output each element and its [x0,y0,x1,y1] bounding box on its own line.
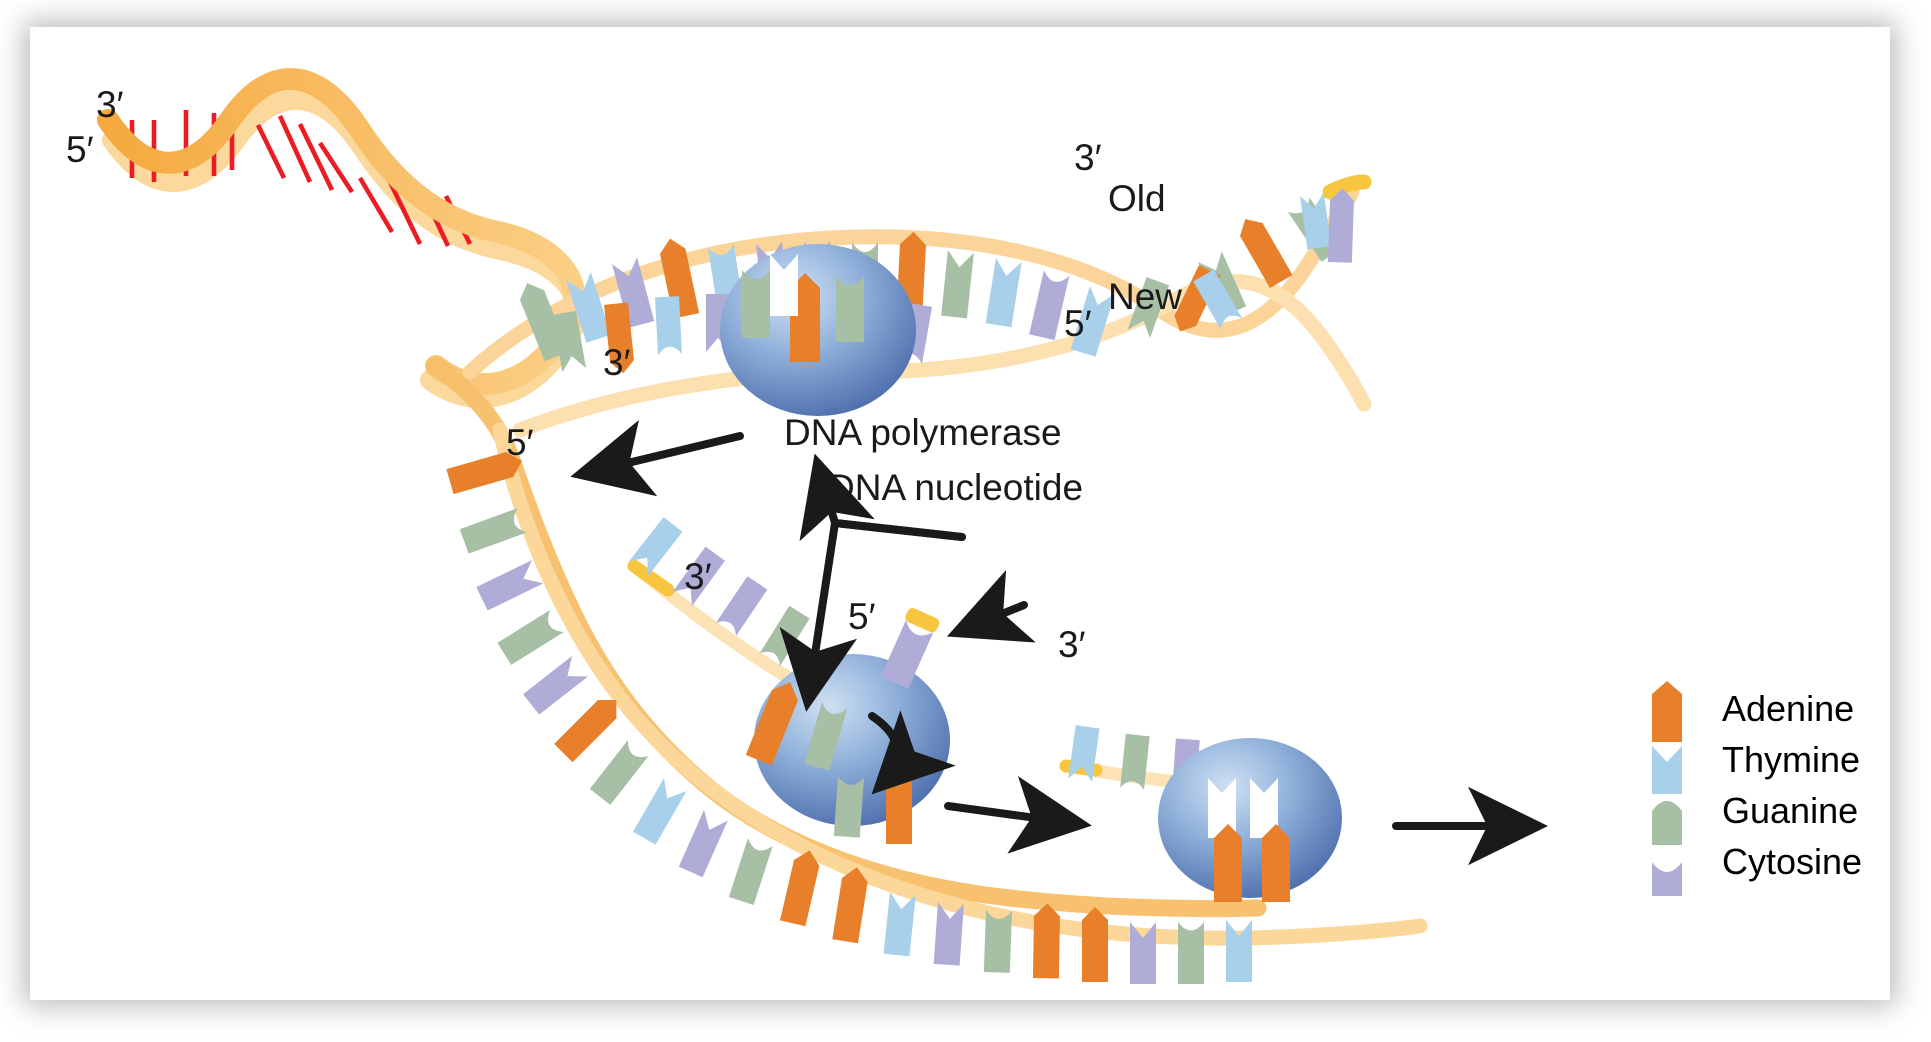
parent-helix-5prime-label: 5′ [66,131,94,168]
dna-polymerase-enzyme-2 [746,654,950,844]
replication-direction-arrow-lower [948,806,1080,824]
leading-3prime-label: 3′ [603,344,631,381]
legend-swatches [1648,680,1694,930]
lagging-3prime-label: 3′ [684,558,712,595]
free-dna-nucleotide [879,606,941,689]
figure-canvas: 3′ 5′ 3′ Old New 5′ 3′ 5′ 3′ 5′ 3′ DNA p… [0,0,1931,1042]
fragment-3prime-label: 3′ [1058,626,1086,663]
fragment-5prime-label: 5′ [848,598,876,635]
new-strand-label: New [1108,278,1182,315]
dna-polymerase-enzyme-3 [1158,738,1342,902]
parent-double-helix [108,79,1258,908]
dna-polymerase-callout-label: DNA polymerase [784,414,1062,451]
dna-polymerase-enzyme-1 [720,244,916,416]
legend-swatch-cytosine [1652,862,1682,896]
old-strand-label: Old [1108,180,1166,217]
dna-replication-illustration [0,0,1931,1042]
legend-swatch-thymine [1652,746,1682,794]
lagging-5prime-label: 5′ [506,424,534,461]
replication-direction-arrow-upper [582,436,740,474]
nucleotide-callout-arrow [958,605,1024,632]
leading-strand-duplex [470,182,1364,430]
legend-swatch-guanine [1652,801,1682,845]
fork-3prime-label: 3′ [1074,139,1102,176]
legend-label-thymine: Thymine [1722,739,1860,781]
legend-label-cytosine: Cytosine [1722,841,1862,883]
legend-swatch-adenine [1652,681,1682,742]
legend-label-guanine: Guanine [1722,790,1858,832]
legend-label-adenine: Adenine [1722,688,1854,730]
dna-nucleotide-callout-label: DNA nucleotide [828,469,1083,506]
fork-5prime-label: 5′ [1064,305,1092,342]
parent-helix-3prime-label: 3′ [96,86,124,123]
